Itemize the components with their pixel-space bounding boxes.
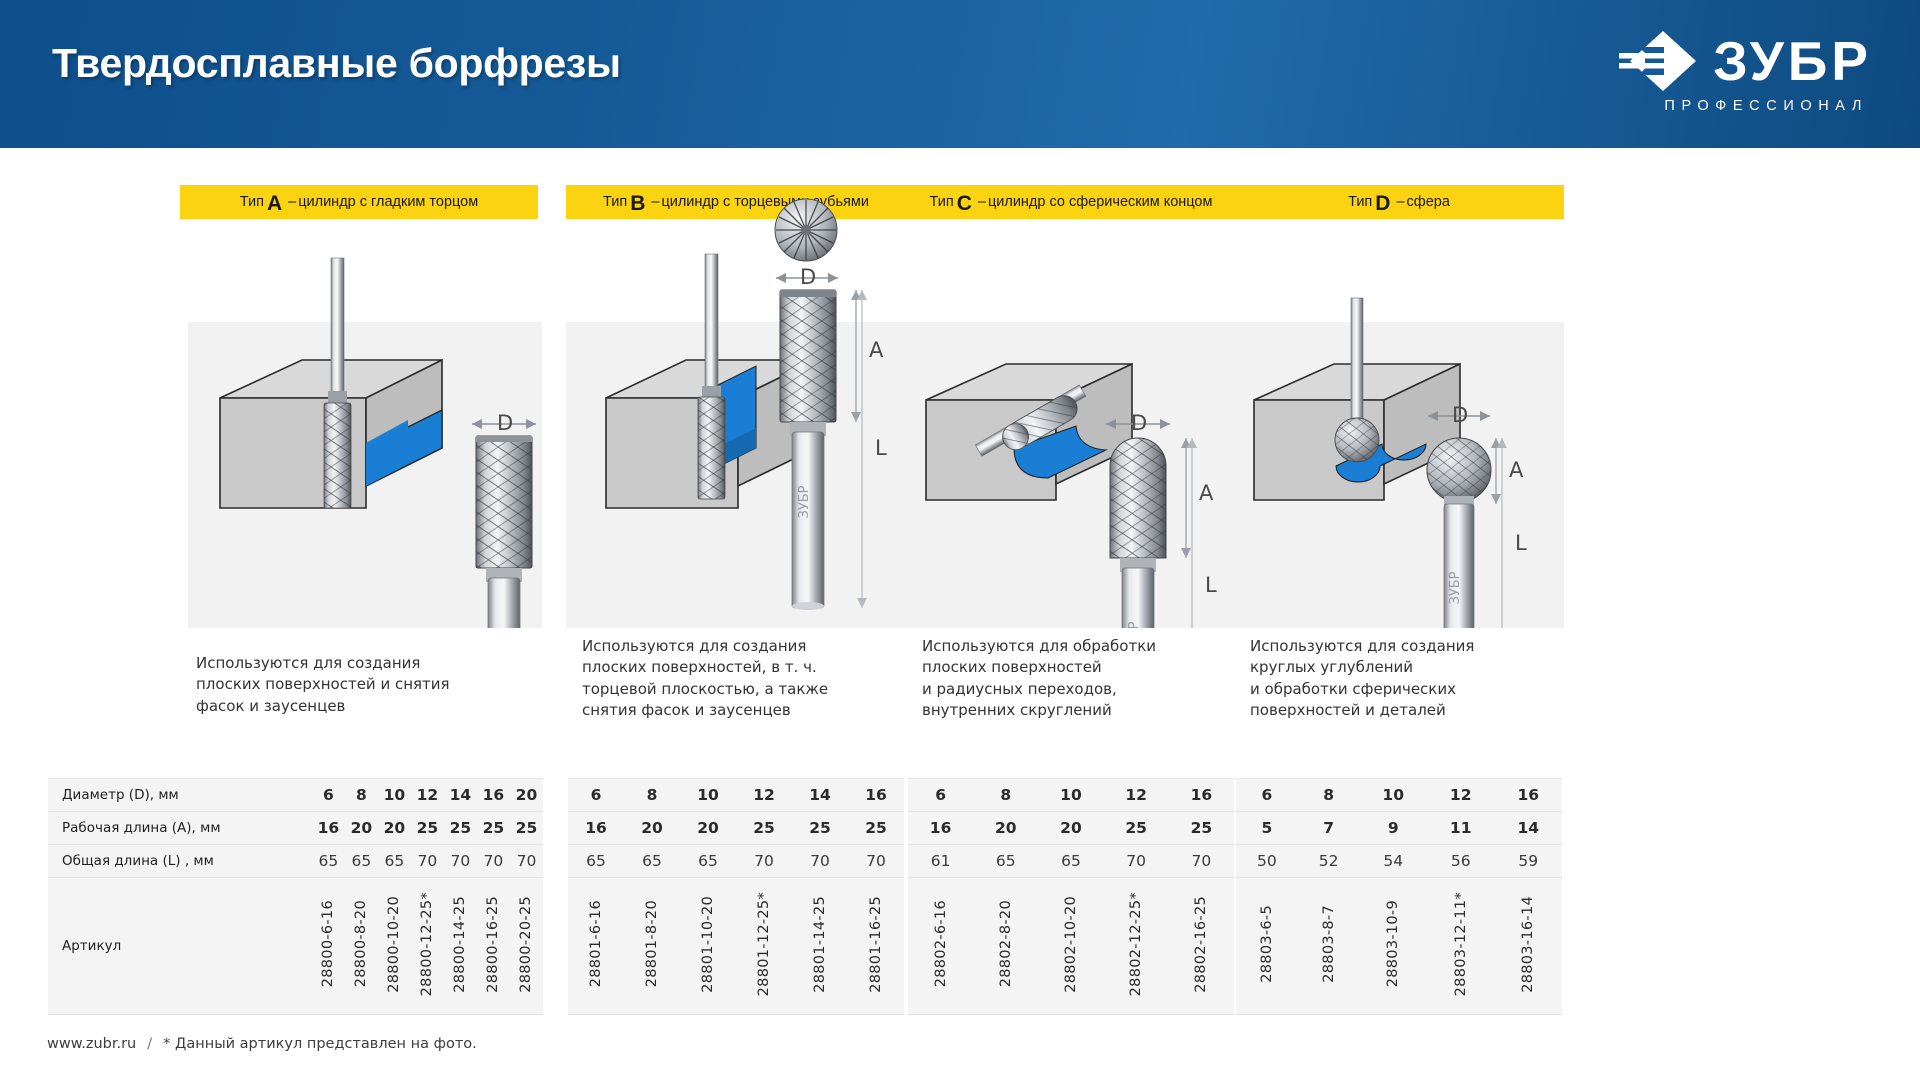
cell: 14 — [792, 779, 848, 812]
dim-label-a-d: A — [1509, 458, 1523, 482]
article-value: 28801-14-25 — [812, 896, 828, 993]
cell: 54 — [1359, 845, 1427, 878]
table-row: 656565707070 — [568, 845, 904, 878]
cell: 70 — [1169, 845, 1234, 878]
cell: 16 — [1494, 779, 1562, 812]
cell: 6 — [568, 779, 624, 812]
dim-label-a-c: A — [1199, 481, 1213, 505]
cell: 6 — [1236, 779, 1298, 812]
article-value: 28803-16-14 — [1520, 896, 1536, 993]
spec-table-b: 6810121416 162020252525 656565707070 288… — [568, 778, 904, 1015]
website-link[interactable]: www.zubr.ru — [47, 1036, 136, 1052]
article-value: 28803-10-9 — [1385, 900, 1401, 987]
illustration-a: ЗУБР D A L — [36, 148, 542, 628]
cell: 25 — [477, 812, 510, 845]
cell: 70 — [1104, 845, 1169, 878]
table-row: 68101216 — [908, 779, 1234, 812]
cell: 25 — [510, 812, 543, 845]
cell: 10 — [1038, 779, 1103, 812]
brand-tagline: ПРОФЕССИОНАЛ — [1664, 98, 1868, 114]
cell: 25 — [1169, 812, 1234, 845]
article-value: 28801-16-25 — [868, 896, 884, 993]
svg-text:ЗУБР: ЗУБР — [1127, 621, 1142, 628]
tool-main-b: ЗУБР — [775, 199, 867, 610]
article-value: 28801-6-16 — [588, 900, 604, 987]
table-row: 6165657070 — [908, 845, 1234, 878]
cell: 14 — [1494, 812, 1562, 845]
article-cell: 28803-12-11* — [1427, 878, 1495, 1015]
cell: 65 — [624, 845, 680, 878]
cell: 56 — [1427, 845, 1495, 878]
table-row-articles: 28801-6-16 28801-8-20 28801-10-20 28801-… — [568, 878, 904, 1015]
article-cell: 28802-6-16 — [908, 878, 973, 1015]
cell: 65 — [568, 845, 624, 878]
cell: 16 — [477, 779, 510, 812]
article-value: 28803-12-11* — [1453, 892, 1469, 996]
article-cell: 28800-16-25 — [477, 878, 510, 1015]
article-value: 28800-10-20 — [386, 896, 402, 993]
article-value: 28800-12-25* — [419, 892, 435, 996]
article-value: 28800-6-16 — [320, 900, 336, 987]
dim-label-l-d: L — [1515, 531, 1527, 555]
cell: 25 — [1104, 812, 1169, 845]
cell: 70 — [444, 845, 477, 878]
article-cell: 28801-16-25 — [848, 878, 904, 1015]
article-cell: 28801-8-20 — [624, 878, 680, 1015]
cell: 65 — [1038, 845, 1103, 878]
cell: 25 — [411, 812, 444, 845]
article-value: 28801-8-20 — [644, 900, 660, 987]
article-value: 28800-8-20 — [353, 900, 369, 987]
type-column-b: Тип B – цилиндр с торцевыми зубьями — [566, 148, 906, 1028]
cell: 6 — [312, 779, 345, 812]
cell: 20 — [378, 812, 411, 845]
article-cell: 28803-6-5 — [1236, 878, 1298, 1015]
cell: 5 — [1236, 812, 1298, 845]
cell: 20 — [680, 812, 736, 845]
cell: 16 — [908, 812, 973, 845]
page-title: Твердосплавные борфрезы — [52, 40, 621, 87]
row-label: Рабочая длина (A), мм — [48, 812, 312, 845]
dim-label-l-c: L — [1205, 573, 1217, 597]
cell: 8 — [624, 779, 680, 812]
dim-label-d-a: D — [497, 411, 513, 435]
dim-label-a-b: A — [869, 338, 883, 362]
cell: 9 — [1359, 812, 1427, 845]
page-footer: www.zubr.ru/* Данный артикул представлен… — [47, 1036, 477, 1052]
svg-text:ЗУБР: ЗУБР — [1448, 571, 1463, 604]
cell: 20 — [624, 812, 680, 845]
cell: 16 — [1169, 779, 1234, 812]
illustration-c: ЗУБР D A L — [906, 148, 1236, 628]
table-row-articles: 28803-6-5 28803-8-7 28803-10-9 28803-12-… — [1236, 878, 1562, 1015]
cell: 65 — [680, 845, 736, 878]
article-value: 28801-10-20 — [700, 896, 716, 993]
cell: 52 — [1298, 845, 1360, 878]
footnote: * Данный артикул представлен на фото. — [163, 1036, 477, 1052]
brand-name: ЗУБР — [1713, 35, 1872, 87]
article-value: 28800-14-25 — [452, 896, 468, 993]
cell: 65 — [378, 845, 411, 878]
article-value: 28802-8-20 — [998, 900, 1014, 987]
article-value: 28802-12-25* — [1128, 892, 1144, 996]
article-value: 28800-16-25 — [485, 896, 501, 993]
article-cell: 28802-10-20 — [1038, 878, 1103, 1015]
illustration-d: ЗУБР D A L — [1232, 148, 1564, 628]
table-row: 6810121416 — [568, 779, 904, 812]
row-label: Общая длина (L) , мм — [48, 845, 312, 878]
dim-label-d-b: D — [800, 265, 816, 289]
spec-table-c: 68101216 1620202525 6165657070 28802-6-1… — [908, 778, 1234, 1015]
article-cell: 28801-14-25 — [792, 878, 848, 1015]
datasheet-page: Твердосплавные борфрезы ЗУБР ПРОФЕССИОНА… — [0, 0, 1920, 1080]
page-header: Твердосплавные борфрезы ЗУБР ПРОФЕССИОНА… — [0, 0, 1920, 148]
cell: 12 — [736, 779, 792, 812]
article-value: 28803-6-5 — [1259, 905, 1275, 983]
article-cell: 28800-14-25 — [444, 878, 477, 1015]
article-value: 28802-10-20 — [1063, 896, 1079, 993]
table-row: 5791114 — [1236, 812, 1562, 845]
cell: 20 — [973, 812, 1038, 845]
description-a: Используются для создания плоских поверх… — [196, 653, 486, 717]
article-cell: 28800-10-20 — [378, 878, 411, 1015]
cell: 70 — [848, 845, 904, 878]
article-cell: 28800-12-25* — [411, 878, 444, 1015]
zubr-diamond-icon — [1619, 30, 1697, 92]
table-row: Общая длина (L) , мм65656570707070 — [48, 845, 543, 878]
cell: 6 — [908, 779, 973, 812]
article-value: 28802-6-16 — [933, 900, 949, 987]
cell: 12 — [411, 779, 444, 812]
tool-main-a: ЗУБР — [472, 419, 542, 628]
spec-table-d: 68101216 5791114 5052545659 28803-6-5 28… — [1236, 778, 1562, 1015]
cell: 20 — [1038, 812, 1103, 845]
cell: 70 — [477, 845, 510, 878]
cell: 65 — [973, 845, 1038, 878]
article-cell: 28802-12-25* — [1104, 878, 1169, 1015]
description-b: Используются для создания плоских поверх… — [582, 636, 852, 721]
cell: 70 — [411, 845, 444, 878]
cell: 70 — [510, 845, 543, 878]
dim-label-l-b: L — [875, 436, 887, 460]
cell: 16 — [568, 812, 624, 845]
article-cell: 28803-8-7 — [1298, 878, 1360, 1015]
article-cell: 28803-16-14 — [1494, 878, 1562, 1015]
cell: 12 — [1427, 779, 1495, 812]
table-row: Диаметр (D), мм681012141620 — [48, 779, 543, 812]
table-row: 1620202525 — [908, 812, 1234, 845]
cell: 59 — [1494, 845, 1562, 878]
article-cell: 28800-20-25 — [510, 878, 543, 1015]
table-row: 5052545659 — [1236, 845, 1562, 878]
article-cell: 28803-10-9 — [1359, 878, 1427, 1015]
type-column-c: Тип C – цилиндр со сферическим концом — [906, 148, 1236, 1028]
table-row-articles: Артикул 28800-6-16 28800-8-20 28800-10-2… — [48, 878, 543, 1015]
cell: 70 — [792, 845, 848, 878]
article-cell: 28801-10-20 — [680, 878, 736, 1015]
article-value: 28803-8-7 — [1321, 905, 1337, 983]
cell: 8 — [1298, 779, 1360, 812]
article-cell: 28800-8-20 — [345, 878, 378, 1015]
description-d: Используются для создания круглых углубл… — [1250, 636, 1530, 721]
table-row: Рабочая длина (A), мм16202025252525 — [48, 812, 543, 845]
dim-label-d-c: D — [1131, 411, 1147, 435]
cell: 14 — [444, 779, 477, 812]
cell: 65 — [312, 845, 345, 878]
description-c: Используются для обработки плоских повер… — [922, 636, 1202, 721]
brand-logo: ЗУБР ПРОФЕССИОНАЛ — [1619, 30, 1872, 116]
illustration-b: ЗУБР D A L — [566, 148, 906, 628]
cell: 65 — [345, 845, 378, 878]
cell: 20 — [345, 812, 378, 845]
cell: 20 — [510, 779, 543, 812]
row-label-articles: Артикул — [48, 878, 312, 1015]
cell: 25 — [444, 812, 477, 845]
article-value: 28800-20-25 — [518, 896, 534, 993]
cell: 12 — [1104, 779, 1169, 812]
cell: 25 — [736, 812, 792, 845]
cell: 16 — [312, 812, 345, 845]
article-cell: 28802-8-20 — [973, 878, 1038, 1015]
cell: 25 — [848, 812, 904, 845]
cell: 25 — [792, 812, 848, 845]
tool-main-c: ЗУБР — [1106, 419, 1197, 628]
article-value: 28802-16-25 — [1193, 896, 1209, 993]
svg-text:ЗУБР: ЗУБР — [797, 485, 812, 518]
type-column-d: Тип D – сфера — [1232, 148, 1564, 1028]
table-row-articles: 28802-6-16 28802-8-20 28802-10-20 28802-… — [908, 878, 1234, 1015]
cell: 7 — [1298, 812, 1360, 845]
table-row: 162020252525 — [568, 812, 904, 845]
article-cell: 28801-6-16 — [568, 878, 624, 1015]
article-cell: 28800-6-16 — [312, 878, 345, 1015]
footer-separator: / — [147, 1036, 152, 1052]
table-row: 68101216 — [1236, 779, 1562, 812]
cell: 10 — [378, 779, 411, 812]
dim-label-d-d: D — [1452, 403, 1468, 427]
cell: 10 — [1359, 779, 1427, 812]
cell: 11 — [1427, 812, 1495, 845]
article-value: 28801-12-25* — [756, 892, 772, 996]
cell: 70 — [736, 845, 792, 878]
cell: 16 — [848, 779, 904, 812]
article-cell: 28802-16-25 — [1169, 878, 1234, 1015]
cell: 61 — [908, 845, 973, 878]
article-cell: 28801-12-25* — [736, 878, 792, 1015]
cell: 50 — [1236, 845, 1298, 878]
cell: 8 — [973, 779, 1038, 812]
cell: 10 — [680, 779, 736, 812]
type-column-a: Тип A – цилиндр с гладким торцом — [36, 148, 542, 1028]
cell: 8 — [345, 779, 378, 812]
spec-table-a: Диаметр (D), мм681012141620 Рабочая длин… — [48, 778, 543, 1015]
row-label: Диаметр (D), мм — [48, 779, 312, 812]
